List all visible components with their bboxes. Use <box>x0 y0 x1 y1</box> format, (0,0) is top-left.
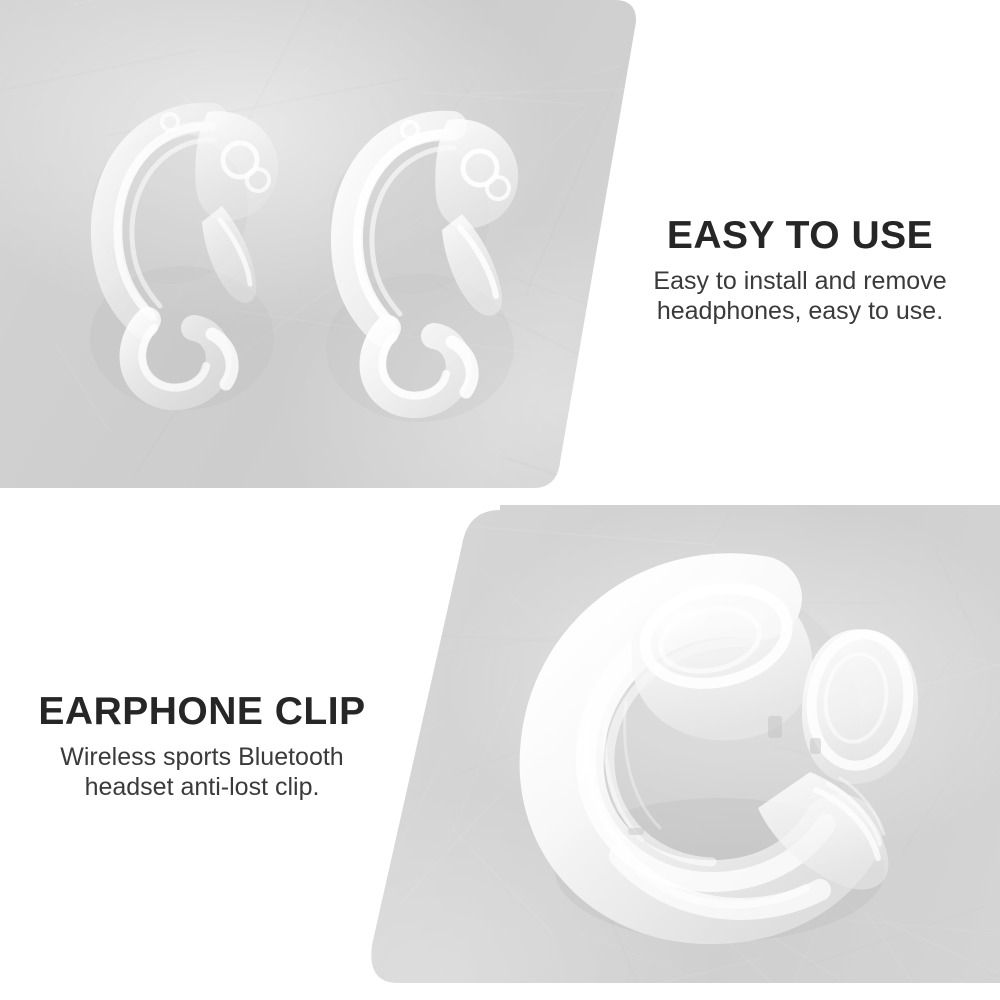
infographic-canvas: EASY TO USE Easy to install and remove h… <box>0 0 1000 1000</box>
earphone-clip-closeup <box>510 540 930 960</box>
feature-block-earphone-clip: EARPHONE CLIP Wireless sports Bluetooth … <box>0 692 404 802</box>
feature-subtitle-earphone-clip: Wireless sports Bluetooth headset anti-l… <box>0 742 404 803</box>
feature-heading-easy-to-use: EASY TO USE <box>600 216 1000 257</box>
earhook-clip-left <box>62 88 302 408</box>
panel-bottom-clip-closeup <box>350 505 1000 1000</box>
feature-subtitle-line1: Wireless sports Bluetooth <box>0 742 404 772</box>
feature-subtitle-line1: Easy to install and remove <box>600 266 1000 296</box>
earhook-clip-right <box>300 98 540 418</box>
feature-heading-earphone-clip: EARPHONE CLIP <box>0 692 404 733</box>
feature-block-easy-to-use: EASY TO USE Easy to install and remove h… <box>600 216 1000 326</box>
feature-subtitle-line2: headphones, easy to use. <box>600 296 1000 326</box>
feature-subtitle-line2: headset anti-lost clip. <box>0 772 404 802</box>
feature-subtitle-easy-to-use: Easy to install and remove headphones, e… <box>600 266 1000 327</box>
panel-top-earhook-pair <box>0 0 660 492</box>
